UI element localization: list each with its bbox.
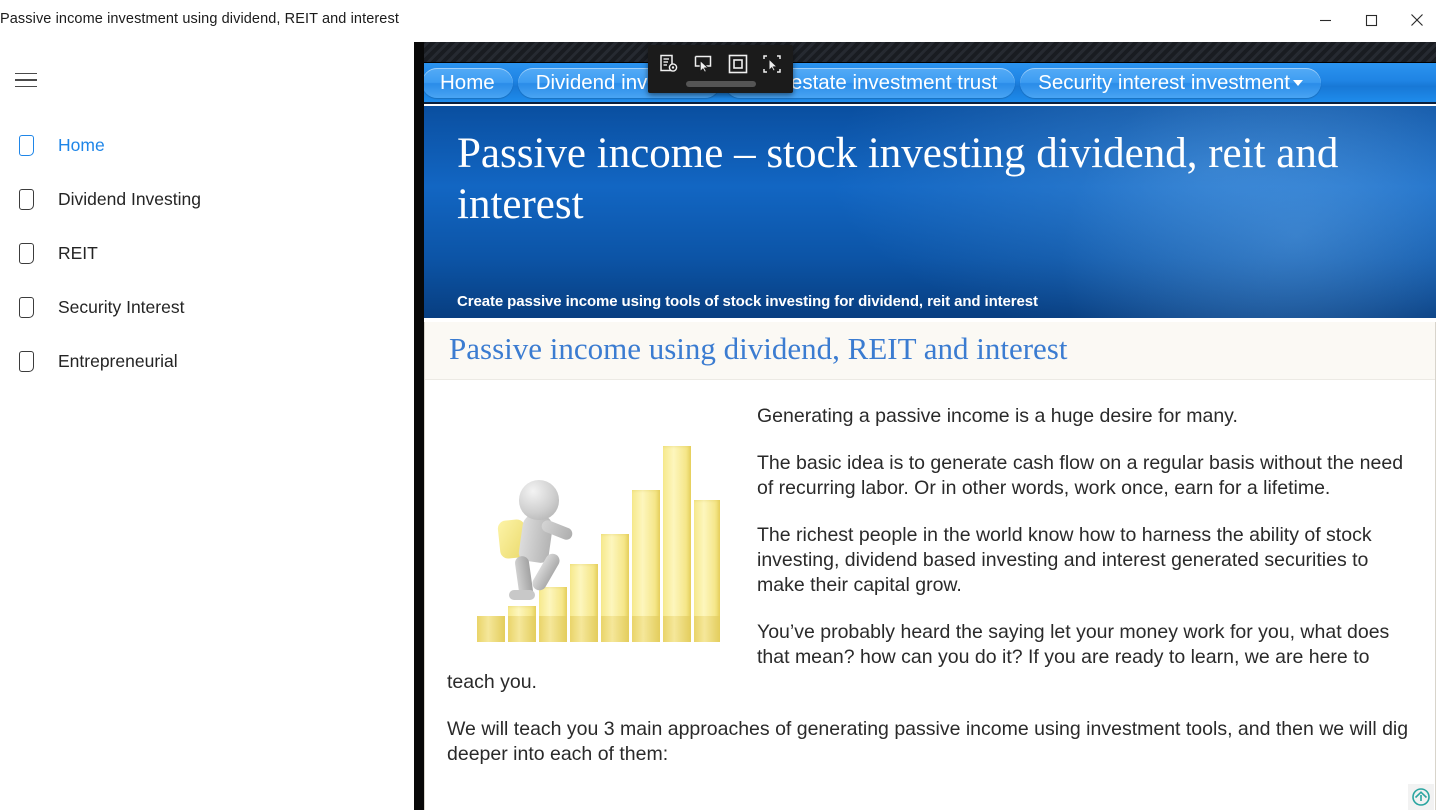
- document-icon: [8, 130, 44, 160]
- sidebar-item-home[interactable]: Home: [0, 118, 414, 172]
- document-icon: [8, 238, 44, 268]
- hero-title: Passive income – stock investing dividen…: [457, 128, 1417, 230]
- document-icon: [8, 292, 44, 322]
- chart-bar: [601, 534, 629, 642]
- site-tab-label: Security interest investment: [1038, 71, 1290, 95]
- sidebar-item-label: Entrepreneurial: [58, 351, 178, 372]
- sidebar-item-label: Dividend Investing: [58, 189, 201, 210]
- site-hero-banner: Passive income – stock investing dividen…: [424, 106, 1436, 318]
- inspect-settings-icon: [658, 53, 680, 75]
- minimize-button[interactable]: [1302, 0, 1348, 40]
- post-card: Passive income using dividend, REIT and …: [424, 322, 1436, 810]
- post-header: Passive income using dividend, REIT and …: [425, 322, 1435, 380]
- document-icon: [8, 184, 44, 214]
- document-icon: [8, 346, 44, 376]
- sidebar-item-security-interest[interactable]: Security Interest: [0, 280, 414, 334]
- select-element-icon: [692, 53, 714, 75]
- window-controls: [1302, 0, 1440, 40]
- sidebar-item-entrepreneurial[interactable]: Entrepreneurial: [0, 334, 414, 388]
- sidebar-item-reit[interactable]: REIT: [0, 226, 414, 280]
- site-tab-label: Home: [440, 71, 495, 95]
- maximize-button[interactable]: [1348, 0, 1394, 40]
- select-element-button[interactable]: [690, 51, 716, 77]
- pick-region-button[interactable]: [759, 51, 785, 77]
- close-icon: [1410, 13, 1424, 27]
- app-root: Passive income investment using dividend…: [0, 0, 1440, 810]
- window-title: Passive income investment using dividend…: [0, 11, 399, 27]
- chart-bar: [663, 446, 691, 642]
- hamburger-icon[interactable]: [6, 62, 46, 98]
- site-left-border: [414, 42, 424, 810]
- post-figure-chart-illustration: [457, 404, 739, 652]
- bar-chart-illustration: [471, 427, 727, 642]
- sidebar-item-label: REIT: [58, 243, 98, 264]
- site-tab-home[interactable]: Home: [422, 68, 513, 98]
- sidebar-nav-list: Home Dividend Investing REIT Security In…: [0, 118, 414, 388]
- site-right-border: [1436, 42, 1440, 810]
- inspect-settings-button[interactable]: [656, 51, 682, 77]
- site-nav-bar: Home Dividend investing Real estate inve…: [414, 63, 1440, 104]
- chart-bar: [477, 620, 505, 642]
- drag-handle[interactable]: [686, 81, 756, 87]
- accessibility-badge-button[interactable]: [1408, 784, 1434, 810]
- sidebar-item-dividend-investing[interactable]: Dividend Investing: [0, 172, 414, 226]
- post-body: Generating a passive income is a huge de…: [425, 380, 1435, 767]
- select-frame-button[interactable]: [725, 51, 751, 77]
- floating-toolbar-icons: [648, 45, 793, 83]
- sidebar: Home Dividend Investing REIT Security In…: [0, 42, 414, 810]
- web-content-pane: Home Dividend investing Real estate inve…: [414, 42, 1440, 810]
- chart-bar: [632, 490, 660, 642]
- maximize-icon: [1365, 14, 1378, 27]
- accessibility-badge-icon: [1412, 788, 1430, 806]
- minimize-icon: [1319, 14, 1332, 27]
- pick-region-icon: [761, 53, 783, 75]
- post-paragraph: We will teach you 3 main approaches of g…: [447, 717, 1409, 767]
- post-title: Passive income using dividend, REIT and …: [449, 331, 1067, 367]
- sidebar-item-label: Security Interest: [58, 297, 184, 318]
- climbing-person-icon: [493, 480, 585, 600]
- floating-inspect-toolbar[interactable]: [648, 45, 793, 93]
- close-button[interactable]: [1394, 0, 1440, 40]
- chart-bar: [694, 500, 720, 642]
- site-top-stripe-band: [414, 42, 1440, 63]
- hero-subtitle: Create passive income using tools of sto…: [457, 293, 1417, 310]
- sidebar-item-label: Home: [58, 135, 105, 156]
- site-tab-security-interest-investment[interactable]: Security interest investment: [1020, 68, 1321, 98]
- chart-bar: [508, 606, 536, 642]
- chevron-down-icon: [1293, 80, 1303, 86]
- select-frame-icon: [727, 53, 749, 75]
- window-titlebar: Passive income investment using dividend…: [0, 0, 1440, 42]
